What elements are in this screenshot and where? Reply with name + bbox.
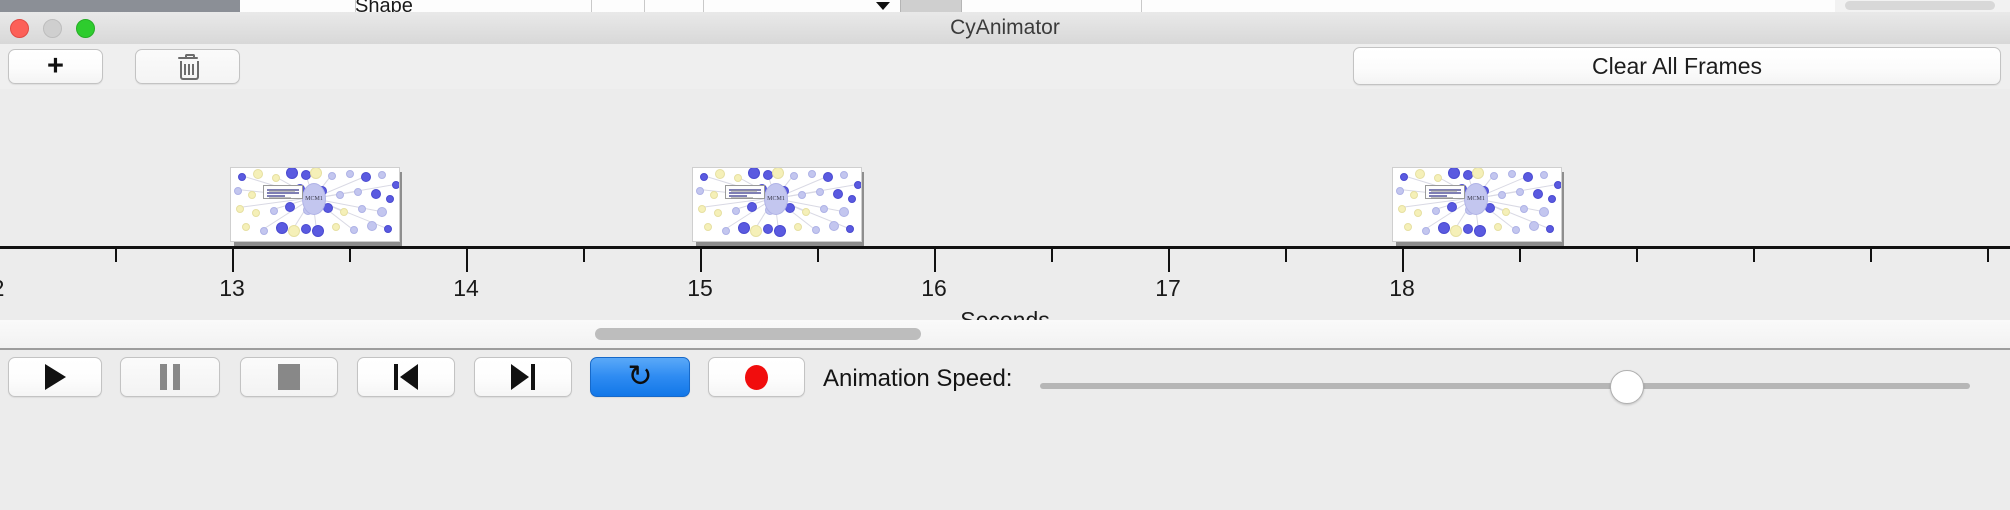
network-node bbox=[1520, 205, 1528, 213]
thumbnail-caption-line bbox=[1431, 197, 1453, 199]
record-button[interactable] bbox=[708, 357, 805, 397]
playback-bar: ↻ Animation Speed: bbox=[0, 350, 2010, 510]
axis-tick-label: 15 bbox=[665, 275, 735, 302]
axis-tick-minor bbox=[1753, 249, 1755, 262]
network-hub-node: MCM1 bbox=[302, 183, 326, 215]
pause-button[interactable] bbox=[120, 357, 220, 397]
background-scrollbar[interactable] bbox=[1845, 1, 1995, 10]
clear-all-frames-label: Clear All Frames bbox=[1592, 53, 1762, 80]
network-node bbox=[1502, 208, 1510, 216]
network-node bbox=[846, 225, 854, 233]
network-node bbox=[839, 207, 849, 217]
network-node bbox=[336, 191, 344, 199]
window-title: CyAnimator bbox=[0, 12, 2010, 44]
network-node bbox=[276, 222, 288, 234]
network-node bbox=[312, 225, 324, 237]
axis-tick-minor bbox=[349, 249, 351, 262]
network-node bbox=[248, 191, 256, 199]
axis-tick-minor bbox=[1519, 249, 1521, 262]
network-node bbox=[848, 195, 856, 203]
network-node bbox=[1546, 225, 1554, 233]
background-cell bbox=[645, 0, 704, 12]
network-hub-node: MCM1 bbox=[764, 183, 788, 215]
plus-icon: + bbox=[47, 52, 64, 81]
network-node bbox=[1400, 173, 1408, 181]
network-node bbox=[392, 181, 400, 189]
axis-tick-minor bbox=[1870, 249, 1872, 262]
network-node bbox=[358, 205, 366, 213]
network-node bbox=[696, 187, 704, 195]
background-shape-label: Shape bbox=[355, 0, 413, 12]
thumbnail-caption-line bbox=[1431, 190, 1457, 192]
network-node bbox=[301, 224, 311, 234]
network-node bbox=[1448, 167, 1460, 179]
axis-tick-label: 2 bbox=[0, 275, 33, 302]
animation-speed-slider-thumb[interactable] bbox=[1610, 370, 1644, 404]
network-node bbox=[854, 181, 862, 189]
axis-tick-major bbox=[232, 249, 234, 272]
network-node bbox=[346, 170, 354, 178]
network-hub-node: MCM1 bbox=[1464, 183, 1488, 215]
network-node bbox=[715, 169, 725, 179]
network-node bbox=[714, 209, 722, 217]
network-node bbox=[252, 209, 260, 217]
network-node bbox=[236, 205, 244, 213]
network-node bbox=[1396, 187, 1404, 195]
thumbnail-caption-line bbox=[731, 197, 753, 199]
background-app-strip: Shape bbox=[0, 0, 2010, 12]
background-cell bbox=[704, 0, 901, 12]
skip-forward-icon bbox=[511, 364, 535, 390]
record-icon bbox=[745, 365, 768, 390]
network-node bbox=[386, 195, 394, 203]
network-node bbox=[802, 208, 810, 216]
thumbnail-canvas: MCM1 bbox=[230, 167, 400, 242]
toolbar: + Clear All Frames bbox=[0, 44, 2010, 90]
axis-tick-major bbox=[1168, 249, 1170, 272]
network-node bbox=[700, 173, 708, 181]
axis-tick-major bbox=[1402, 249, 1404, 272]
axis-tick-label: 18 bbox=[1367, 275, 1437, 302]
trash-icon bbox=[178, 55, 198, 79]
network-node bbox=[378, 171, 386, 179]
axis-tick-major bbox=[700, 249, 702, 272]
network-node bbox=[332, 223, 340, 231]
network-node bbox=[1463, 224, 1473, 234]
network-node bbox=[1422, 227, 1430, 235]
network-node bbox=[798, 191, 806, 199]
network-node bbox=[367, 221, 377, 231]
network-node bbox=[354, 188, 362, 196]
network-node bbox=[1494, 223, 1502, 231]
axis-tick-minor bbox=[1285, 249, 1287, 262]
network-node bbox=[270, 207, 278, 215]
network-node bbox=[710, 191, 718, 199]
network-node bbox=[1415, 169, 1425, 179]
next-frame-button[interactable] bbox=[474, 357, 572, 397]
add-frame-button[interactable]: + bbox=[8, 49, 103, 84]
network-node bbox=[1533, 189, 1543, 199]
thumbnail-canvas: MCM1 bbox=[692, 167, 862, 242]
network-node bbox=[285, 202, 295, 212]
axis-tick-label: 13 bbox=[197, 275, 267, 302]
network-node bbox=[734, 174, 742, 182]
network-node bbox=[377, 207, 387, 217]
network-node bbox=[242, 223, 250, 231]
title-bar: CyAnimator bbox=[0, 12, 2010, 45]
network-node bbox=[1554, 181, 1562, 189]
axis-tick-minor bbox=[1051, 249, 1053, 262]
network-node bbox=[1434, 174, 1442, 182]
thumbnail-caption-line bbox=[269, 197, 291, 199]
animation-speed-label: Animation Speed: bbox=[823, 365, 1012, 393]
network-node bbox=[833, 189, 843, 199]
network-node bbox=[1539, 207, 1549, 217]
network-node bbox=[272, 174, 280, 182]
axis-tick-minor bbox=[1636, 249, 1638, 262]
delete-frame-button[interactable] bbox=[135, 49, 240, 84]
frame-thumbnail-3[interactable]: MCM1 bbox=[1392, 167, 1562, 243]
network-node bbox=[1498, 191, 1506, 199]
network-node bbox=[1540, 171, 1548, 179]
previous-frame-button[interactable] bbox=[357, 357, 455, 397]
axis-tick-minor bbox=[817, 249, 819, 262]
background-dark-panel bbox=[0, 0, 240, 12]
stop-button[interactable] bbox=[240, 357, 338, 397]
network-node bbox=[790, 172, 798, 180]
axis-tick-major bbox=[466, 249, 468, 272]
network-node bbox=[812, 226, 820, 234]
network-node bbox=[748, 167, 760, 179]
frame-thumbnail-2[interactable]: MCM1 bbox=[692, 167, 862, 243]
axis-tick-minor bbox=[1987, 249, 1989, 262]
background-cell bbox=[240, 0, 356, 12]
network-node bbox=[1490, 172, 1498, 180]
network-node bbox=[704, 223, 712, 231]
network-node bbox=[840, 171, 848, 179]
network-node bbox=[1398, 205, 1406, 213]
axis-tick-label: 16 bbox=[899, 275, 969, 302]
network-node bbox=[1512, 226, 1520, 234]
network-node bbox=[747, 202, 757, 212]
network-node bbox=[1548, 195, 1556, 203]
skip-back-icon bbox=[394, 364, 418, 390]
network-node bbox=[750, 225, 762, 237]
network-node bbox=[1447, 202, 1457, 212]
frame-thumbnail-1[interactable]: MCM1 bbox=[230, 167, 400, 243]
network-node bbox=[260, 227, 268, 235]
pause-icon bbox=[160, 364, 180, 390]
thumbnail-canvas: MCM1 bbox=[1392, 167, 1562, 242]
thumbnail-caption-line bbox=[731, 190, 757, 192]
play-button[interactable] bbox=[8, 357, 102, 397]
network-node bbox=[794, 223, 802, 231]
network-node bbox=[1450, 225, 1462, 237]
clear-all-frames-button[interactable]: Clear All Frames bbox=[1353, 47, 2001, 85]
network-node bbox=[738, 222, 750, 234]
background-cell bbox=[592, 0, 645, 12]
cyanimator-window: Shape CyAnimator + Clear All Frames M bbox=[0, 0, 2010, 510]
network-node bbox=[722, 227, 730, 235]
network-node bbox=[1508, 170, 1516, 178]
network-node bbox=[340, 208, 348, 216]
network-node bbox=[823, 172, 833, 182]
network-node bbox=[1523, 172, 1533, 182]
network-node bbox=[774, 225, 786, 237]
background-selected-column bbox=[900, 0, 962, 12]
loop-button[interactable]: ↻ bbox=[590, 357, 690, 397]
thumbnail-caption-line bbox=[269, 190, 295, 192]
network-node bbox=[1438, 222, 1450, 234]
network-node bbox=[772, 167, 784, 179]
axis-title: Seconds bbox=[0, 307, 2010, 321]
background-cell bbox=[1142, 0, 1836, 12]
network-node bbox=[1404, 223, 1412, 231]
axis-tick-major bbox=[934, 249, 936, 272]
network-node bbox=[820, 205, 828, 213]
network-node bbox=[1516, 188, 1524, 196]
network-node bbox=[698, 205, 706, 213]
network-node bbox=[1414, 209, 1422, 217]
network-node bbox=[288, 225, 300, 237]
network-node bbox=[371, 189, 381, 199]
network-node bbox=[1529, 221, 1539, 231]
network-node bbox=[234, 187, 242, 195]
network-node bbox=[1472, 167, 1484, 179]
network-node bbox=[286, 167, 298, 179]
network-node bbox=[310, 167, 322, 179]
scrollbar-thumb[interactable] bbox=[595, 328, 921, 340]
network-node bbox=[816, 188, 824, 196]
timeline-horizontal-scrollbar[interactable] bbox=[0, 320, 2010, 350]
axis-tick-minor bbox=[115, 249, 117, 262]
network-node bbox=[253, 169, 263, 179]
stop-icon bbox=[278, 364, 300, 390]
network-node bbox=[829, 221, 839, 231]
network-node bbox=[238, 173, 246, 181]
network-node bbox=[1474, 225, 1486, 237]
network-node bbox=[808, 170, 816, 178]
network-node bbox=[1432, 207, 1440, 215]
network-node bbox=[732, 207, 740, 215]
axis-tick-label: 17 bbox=[1133, 275, 1203, 302]
network-node bbox=[350, 226, 358, 234]
animation-speed-slider-track[interactable] bbox=[1040, 383, 1970, 389]
timeline-panel[interactable]: MCM1MCM1MCM1 2131415161718 Seconds bbox=[0, 89, 2010, 321]
timeline-axis-line bbox=[0, 246, 2010, 249]
background-sort-arrow-icon bbox=[876, 2, 890, 10]
network-node bbox=[328, 172, 336, 180]
axis-tick-minor bbox=[583, 249, 585, 262]
axis-tick-label: 14 bbox=[431, 275, 501, 302]
network-node bbox=[384, 225, 392, 233]
play-icon bbox=[45, 364, 66, 390]
loop-icon: ↻ bbox=[627, 362, 652, 392]
background-cell bbox=[961, 0, 1142, 12]
network-node bbox=[1410, 191, 1418, 199]
network-node bbox=[763, 224, 773, 234]
network-node bbox=[361, 172, 371, 182]
